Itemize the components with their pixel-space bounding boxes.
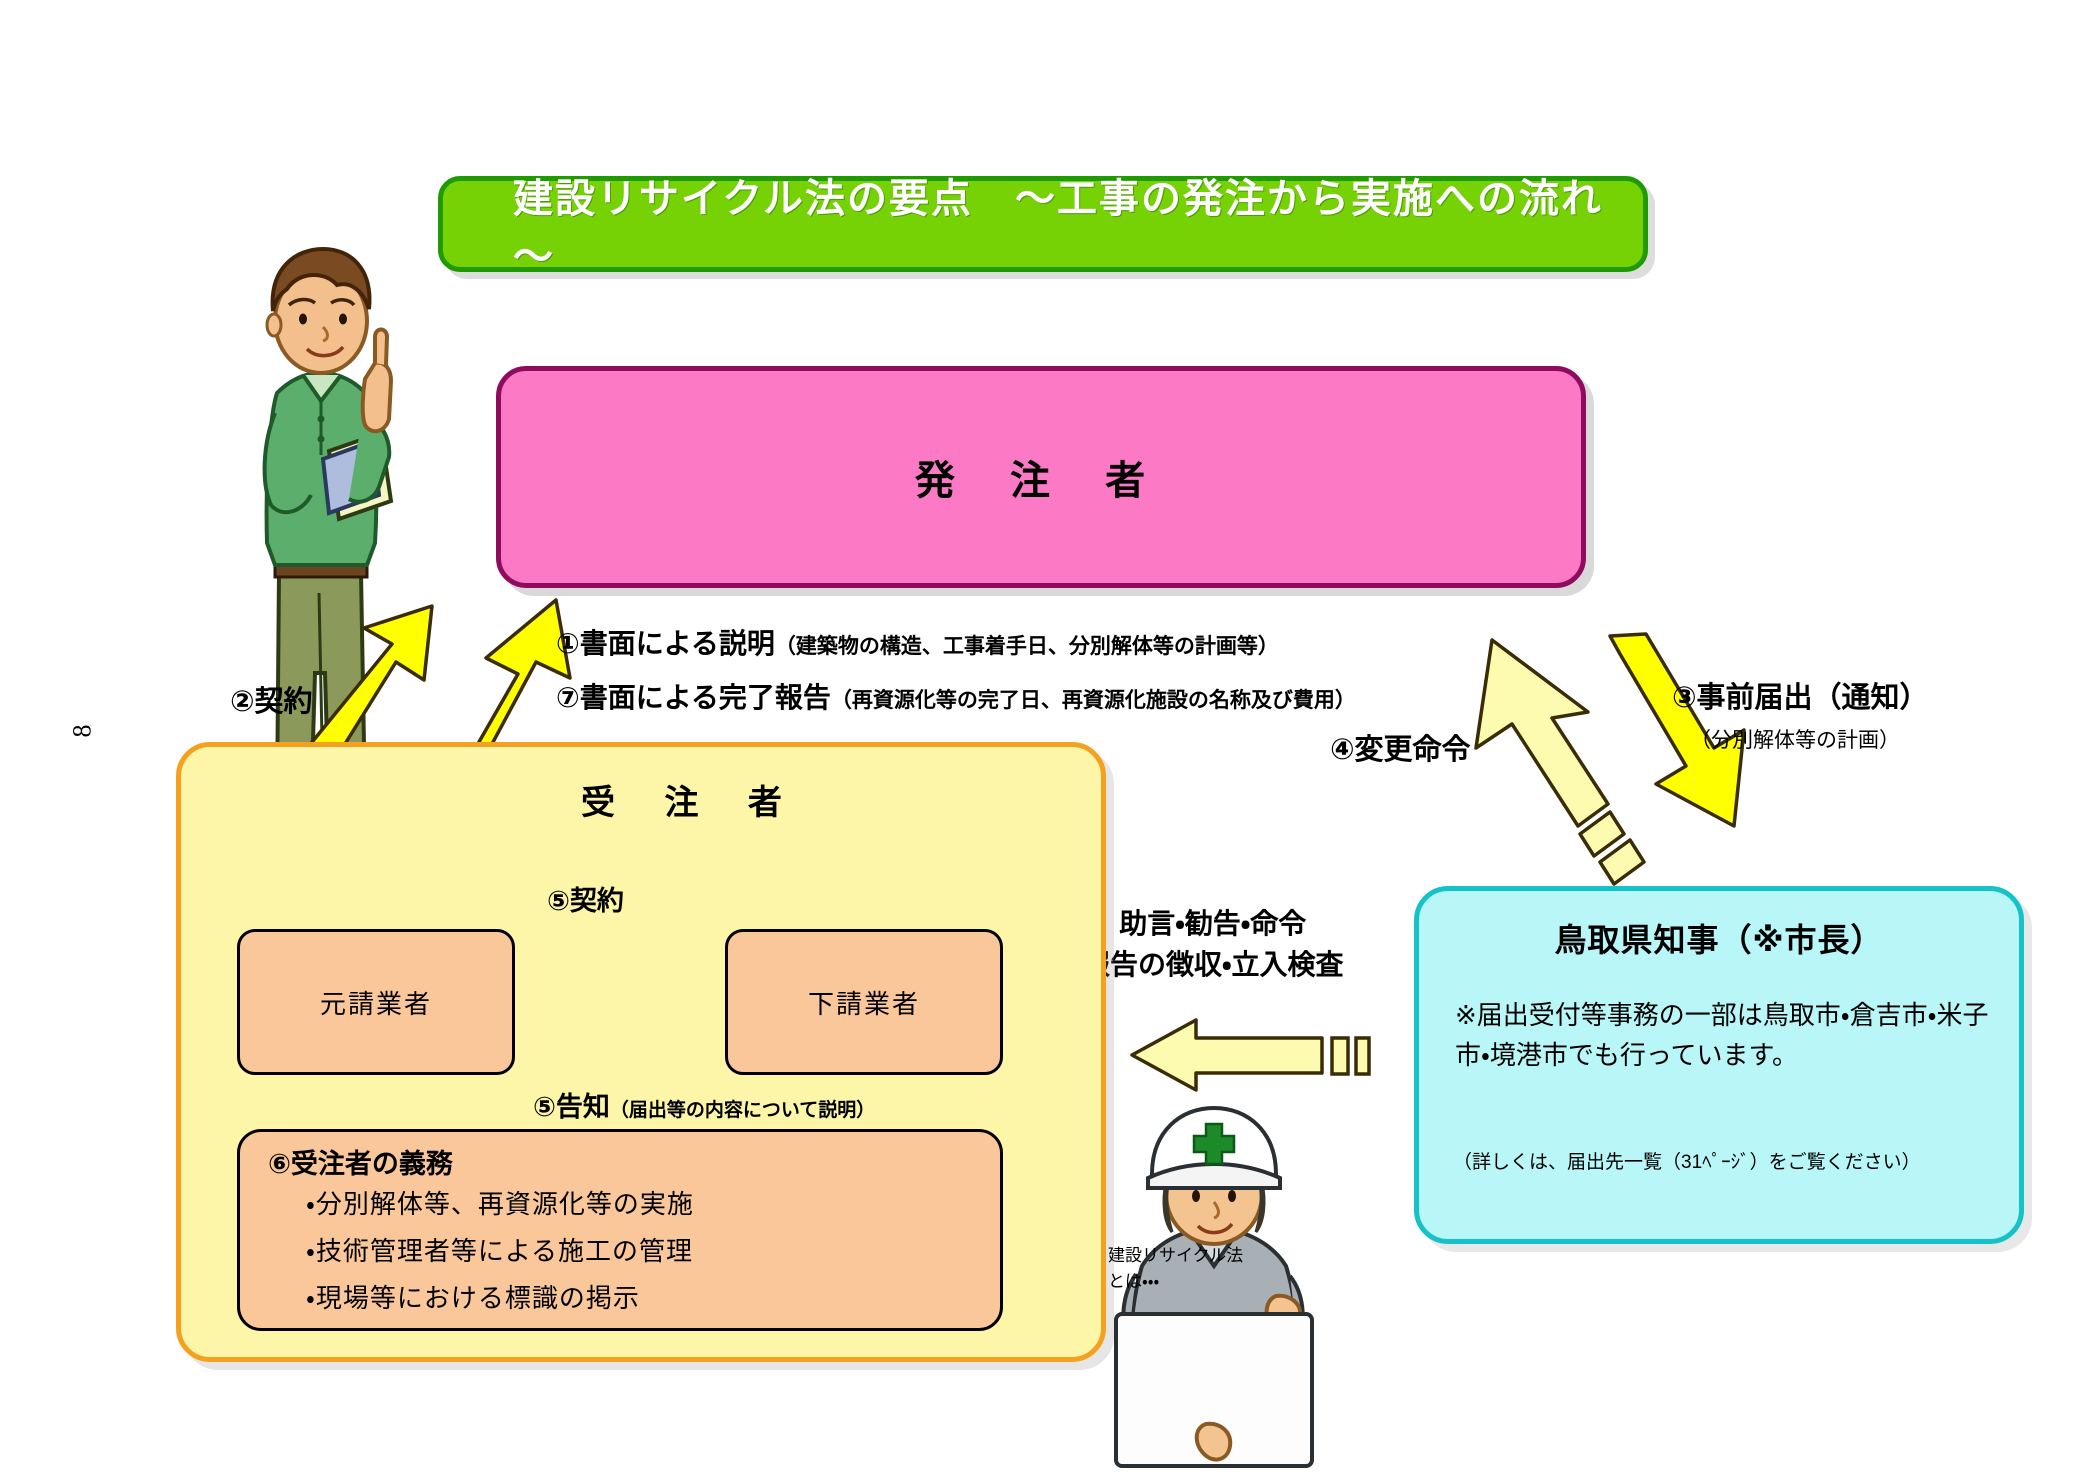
label-sub-contract-5: ⑤契約 bbox=[547, 879, 624, 918]
governor-note: （詳しくは、届出先一覧（31ﾍﾟｰｼﾞ）をご覧ください） bbox=[1453, 1147, 1921, 1174]
governor-box: 鳥取県知事（※市長） ※届出受付等事務の一部は鳥取市・倉吉市・米子市・境港市でも… bbox=[1414, 886, 2024, 1244]
explanation-line-1: ①書面による説明（建築物の構造、工事着手日、分別解体等の計画等） bbox=[556, 622, 1356, 662]
page-number: 8 bbox=[68, 725, 98, 738]
label-prior-notification-3: ③事前届出（通知） bbox=[1672, 674, 1929, 716]
label-advice-order: 助言・勧告・命令 報告の徴収・立入検査 bbox=[1082, 904, 1344, 985]
explanation-7-main: ⑦書面による完了報告 bbox=[556, 682, 831, 713]
duty-item: ・分別解体等、再資源化等の実施 bbox=[306, 1184, 694, 1221]
worker-sign-line-2: とは・・・ bbox=[1108, 1269, 1258, 1295]
governor-body: ※届出受付等事務の一部は鳥取市・倉吉市・米子市・境港市でも行っています。 bbox=[1455, 995, 1989, 1076]
prime-contractor-box: 元請業者 bbox=[237, 929, 515, 1075]
duty-item: ・技術管理者等による施工の管理 bbox=[306, 1231, 694, 1268]
title-banner: 建設リサイクル法の要点 ～工事の発注から実施への流れ～ bbox=[438, 176, 1648, 272]
duty-item: ・現場等における標識の掲示 bbox=[306, 1278, 694, 1315]
contractor-duties-box: ⑥受注者の義務 ・分別解体等、再資源化等の実施 ・技術管理者等による施工の管理 … bbox=[237, 1129, 1003, 1331]
subcontractor-box: 下請業者 bbox=[725, 929, 1003, 1075]
label-prior-notification-3-sub: （分別解体等の計画） bbox=[1690, 724, 1900, 754]
label-change-order-4: ④変更命令 bbox=[1330, 726, 1471, 768]
orderer-label: 発 注 者 bbox=[915, 448, 1167, 506]
duties-list: ・分別解体等、再資源化等の実施 ・技術管理者等による施工の管理 ・現場等における… bbox=[306, 1184, 694, 1325]
explanation-1-paren: （建築物の構造、工事着手日、分別解体等の計画等） bbox=[775, 635, 1279, 658]
explanation-line-7: ⑦書面による完了報告（再資源化等の完了日、再資源化施設の名称及び費用） bbox=[556, 676, 1356, 716]
worker-sign-line-1: 建設リサイクル法 bbox=[1108, 1243, 1258, 1269]
page-title: 建設リサイクル法の要点 ～工事の発注から実施への流れ～ bbox=[443, 166, 1643, 282]
explanation-1-main: ①書面による説明 bbox=[556, 628, 775, 659]
label-sub-notice-5-main: ⑤告知 bbox=[533, 1092, 610, 1122]
prime-contractor-label: 元請業者 bbox=[320, 984, 432, 1021]
arrow-advice-order-left bbox=[1132, 1020, 1369, 1090]
label-sub-notice-5-sub: （届出等の内容について説明） bbox=[610, 1100, 875, 1121]
duties-title: ⑥受注者の義務 bbox=[268, 1142, 453, 1181]
contractor-box: 受 注 者 元請業者 下請業者 ⑤契約 ⑤告知（届出等の内容について説明） ⑥受… bbox=[176, 742, 1106, 1362]
diagram-page: 8 bbox=[0, 0, 2092, 1477]
arrow-change-order-4 bbox=[1476, 640, 1644, 884]
orderer-box: 発 注 者 bbox=[496, 366, 1586, 588]
explanation-lines: ①書面による説明（建築物の構造、工事着手日、分別解体等の計画等） ⑦書面による完… bbox=[556, 622, 1356, 730]
contractor-label: 受 注 者 bbox=[581, 775, 802, 824]
label-sub-notice-5: ⑤告知（届出等の内容について説明） bbox=[533, 1085, 875, 1124]
subcontractor-label: 下請業者 bbox=[808, 984, 920, 1021]
governor-title: 鳥取県知事（※市長） bbox=[1419, 915, 2019, 961]
worker-sign-text: 建設リサイクル法 とは・・・ bbox=[1108, 1243, 1258, 1294]
explanation-7-paren: （再資源化等の完了日、再資源化施設の名称及び費用） bbox=[831, 689, 1356, 712]
label-contract-2: ②契約 bbox=[230, 678, 313, 720]
